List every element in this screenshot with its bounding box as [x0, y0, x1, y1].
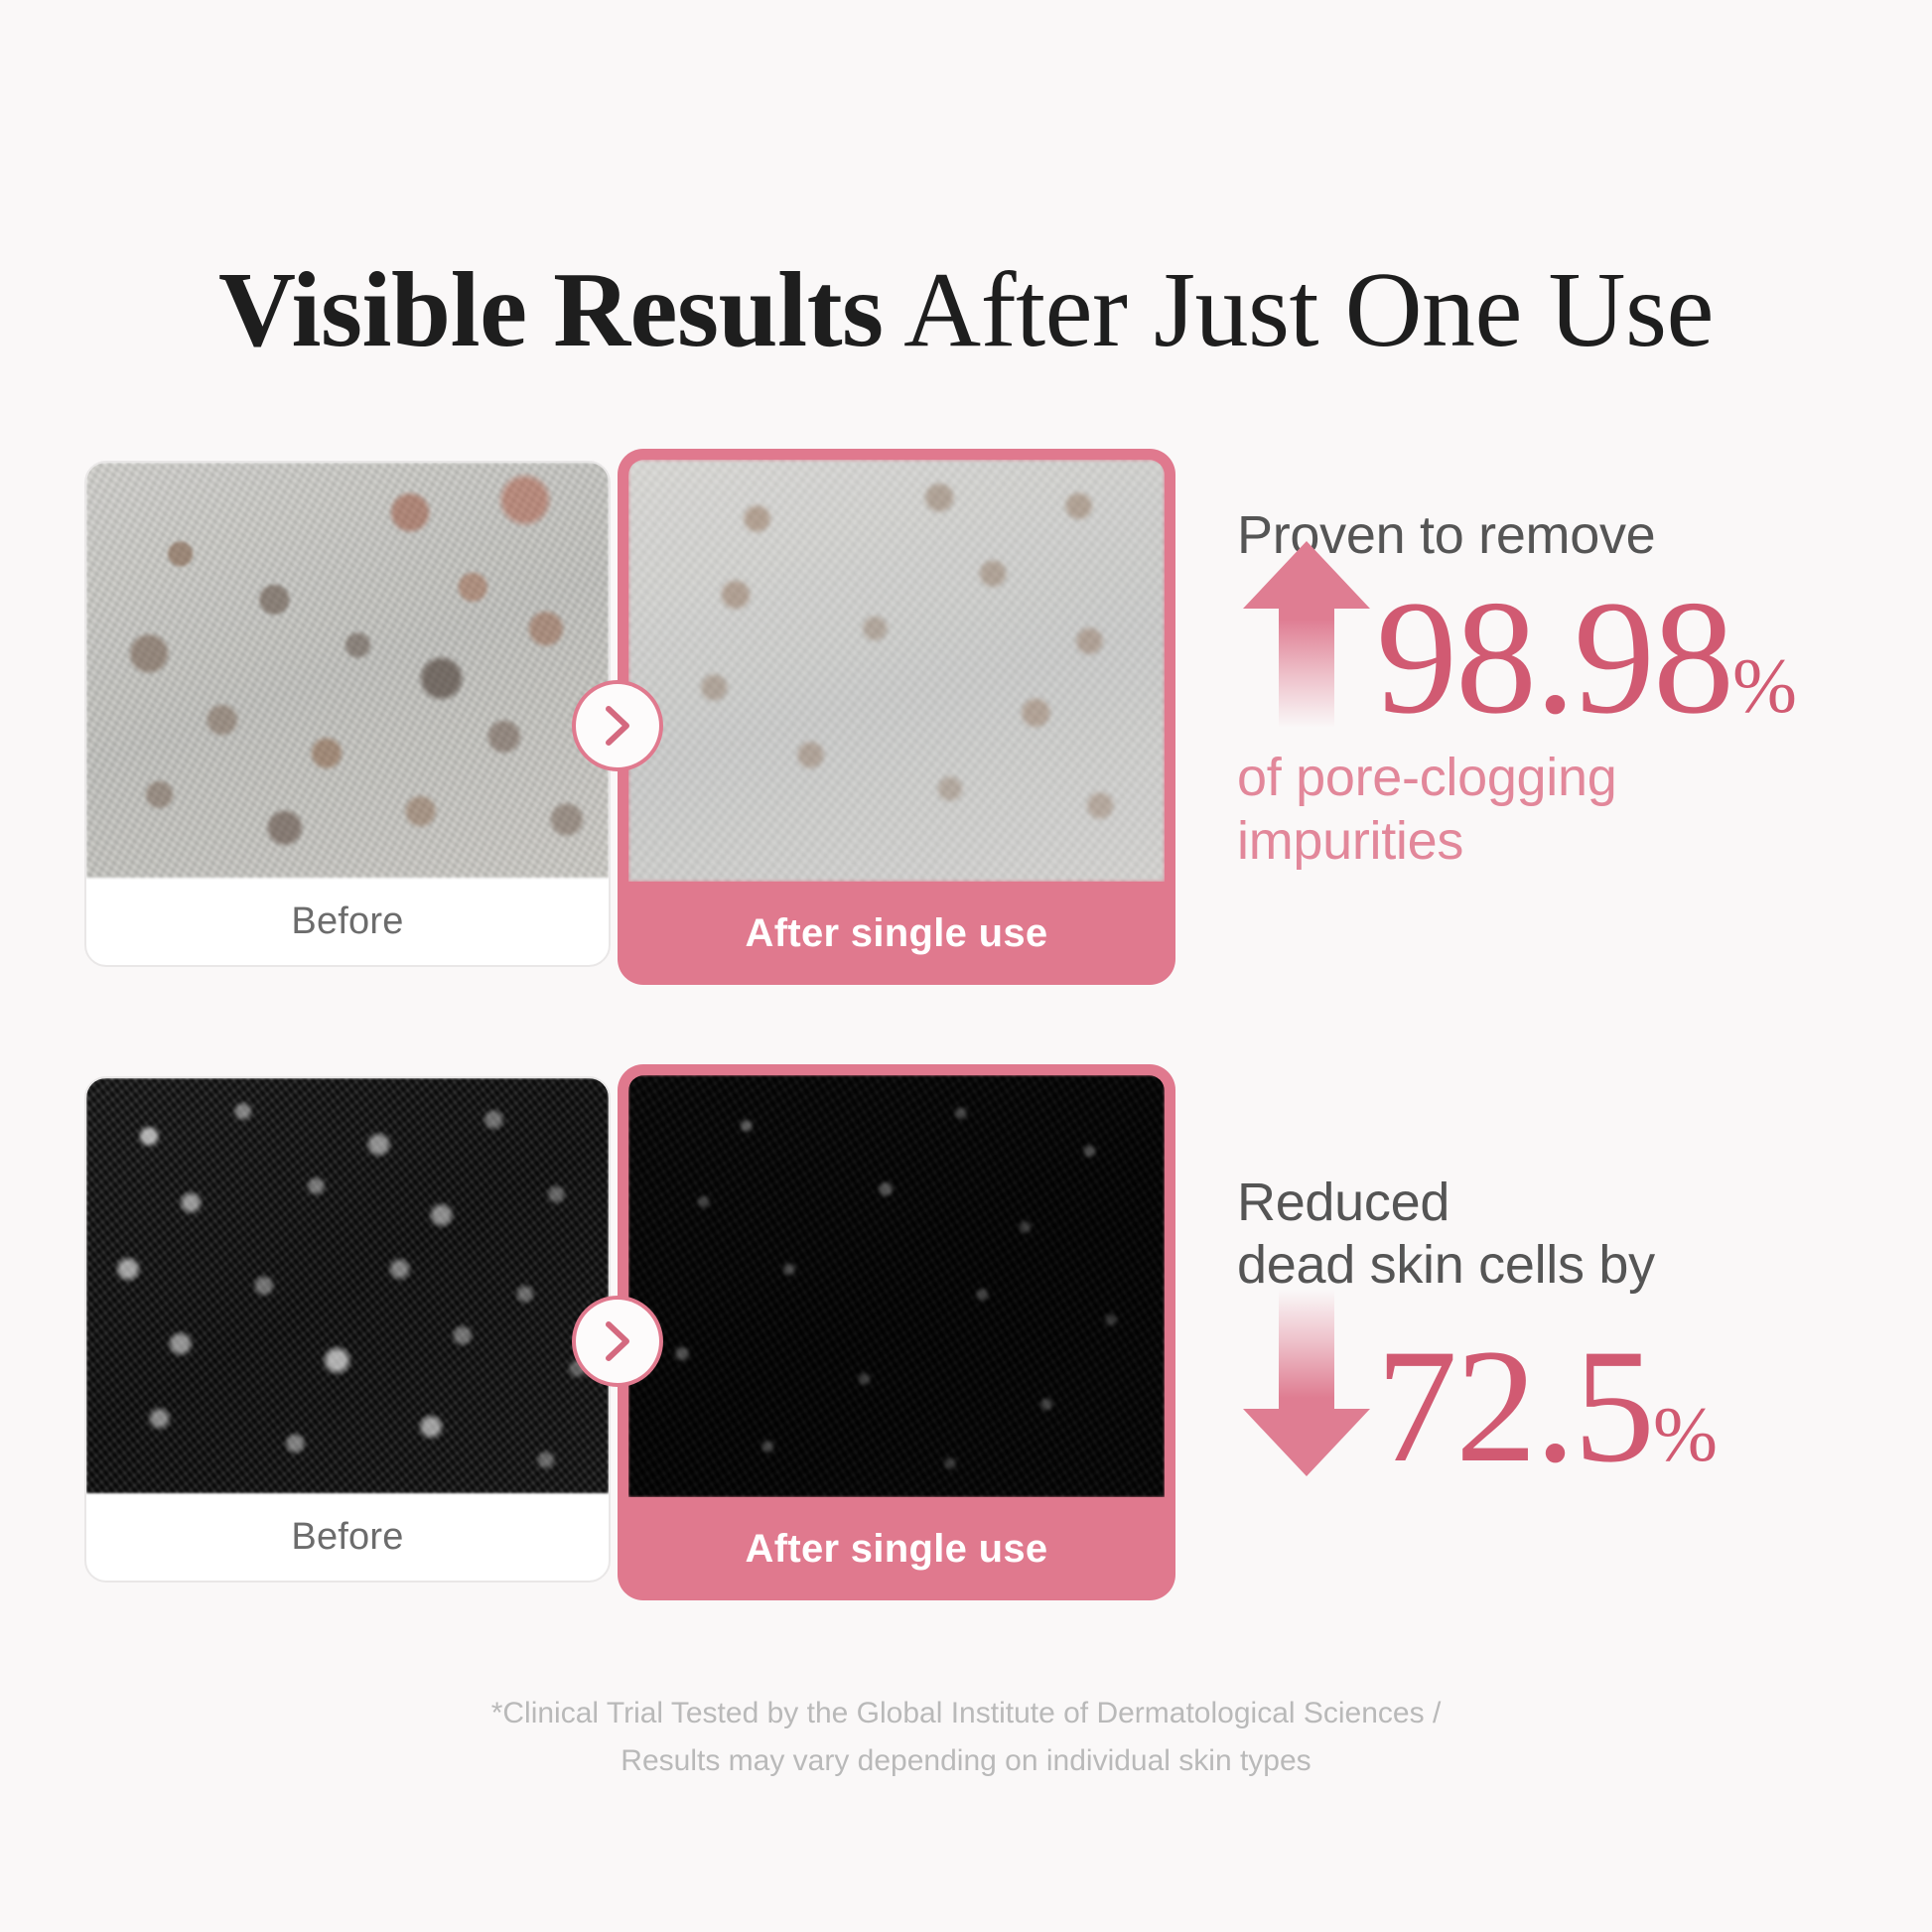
before-caption-pores: Before: [86, 878, 609, 965]
before-photo-pores: [86, 463, 609, 878]
before-photo-dead-skin: [86, 1078, 609, 1493]
chevron-right-icon: [601, 703, 634, 749]
before-caption-dead-skin: Before: [86, 1493, 609, 1581]
stat-block-pore-impurities: Proven to remove 98.98% of pore-clogging…: [1237, 504, 1932, 927]
stat-figure-dead-skin: 72.5%: [1237, 1321, 1932, 1480]
after-caption-pores: After single use: [628, 882, 1165, 985]
after-photo-pores: [628, 460, 1165, 882]
arrow-up-icon: [1237, 533, 1376, 732]
stat-block-dead-skin: Reduced dead skin cells by 72.5%: [1237, 1172, 1932, 1480]
stat-unit-pore-impurities: %: [1732, 642, 1797, 729]
page-title-light: After Just One Use: [884, 251, 1714, 369]
after-photo-frame-dead-skin: [628, 1075, 1165, 1497]
disclaimer-text: *Clinical Trial Tested by the Global Ins…: [0, 1690, 1932, 1785]
stat-lead-dead-skin: Reduced dead skin cells by: [1237, 1172, 1932, 1296]
after-card-dead-skin: After single use: [618, 1064, 1175, 1600]
chevron-right-badge-pores[interactable]: [572, 680, 663, 771]
before-card-dead-skin: Before: [84, 1076, 611, 1583]
stat-value-pore-impurities: 98.98%: [1376, 577, 1797, 740]
page-title-strong: Visible Results: [218, 251, 884, 369]
chevron-right-icon: [601, 1318, 634, 1364]
after-card-pores: After single use: [618, 449, 1175, 985]
after-caption-dead-skin: After single use: [628, 1497, 1165, 1600]
stat-unit-dead-skin: %: [1653, 1391, 1718, 1477]
arrow-down-icon: [1237, 1282, 1376, 1480]
stat-value-dead-skin: 72.5%: [1376, 1325, 1718, 1488]
page-title: Visible Results After Just One Use: [0, 252, 1932, 370]
after-photo-dead-skin: [628, 1075, 1165, 1497]
stat-figure-pore-impurities: 98.98%: [1237, 573, 1932, 732]
before-card-pores: Before: [84, 461, 611, 967]
chevron-right-badge-dead-skin[interactable]: [572, 1296, 663, 1387]
stat-sub-pore-impurities: of pore-clogging impurities: [1237, 746, 1932, 875]
after-photo-frame-pores: [628, 460, 1165, 882]
